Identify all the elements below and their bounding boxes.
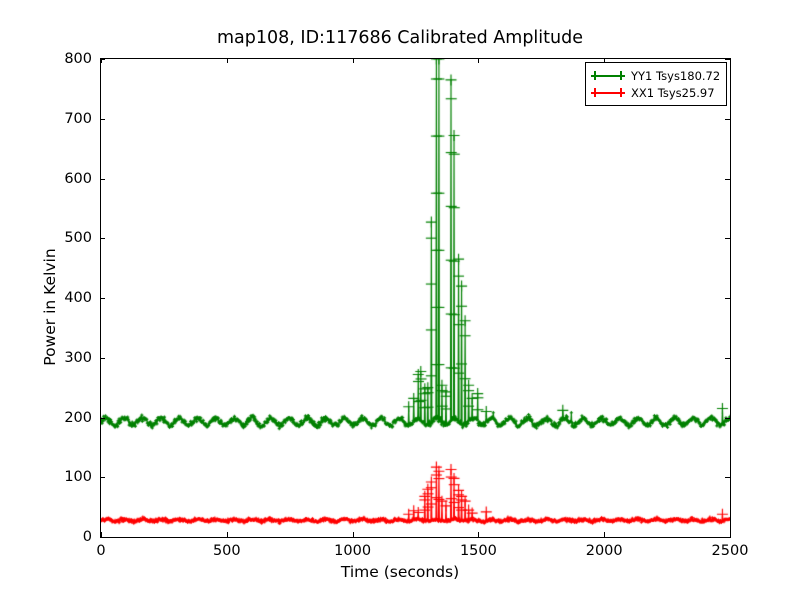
x-tick-mark bbox=[227, 532, 228, 537]
x-tick-mark bbox=[101, 532, 102, 537]
legend-label-yy1: YY1 Tsys180.72 bbox=[631, 69, 720, 83]
y-tick-mark bbox=[725, 238, 730, 239]
x-tick-mark bbox=[353, 532, 354, 537]
y-tick-mark bbox=[100, 537, 105, 538]
y-tick-mark bbox=[100, 119, 105, 120]
plot-area bbox=[100, 58, 731, 538]
legend-item: YY1 Tsys180.72 bbox=[591, 67, 720, 84]
legend-marker-icon bbox=[591, 69, 625, 83]
y-tick-label: 800 bbox=[0, 51, 92, 67]
y-tick-mark bbox=[725, 119, 730, 120]
chart-title: map108, ID:117686 Calibrated Amplitude bbox=[0, 28, 800, 48]
plot-canvas bbox=[101, 59, 730, 537]
x-tick-label: 500 bbox=[182, 543, 272, 559]
y-tick-mark bbox=[100, 298, 105, 299]
chart-legend: YY1 Tsys180.72 XX1 Tsys25.97 bbox=[585, 62, 727, 106]
x-tick-label: 2500 bbox=[685, 543, 775, 559]
matplotlib-figure: map108, ID:117686 Calibrated Amplitude 0… bbox=[0, 0, 800, 600]
x-tick-label: 1000 bbox=[308, 543, 398, 559]
y-tick-mark bbox=[725, 537, 730, 538]
x-axis-label: Time (seconds) bbox=[0, 563, 800, 581]
y-tick-mark bbox=[725, 179, 730, 180]
x-tick-label: 2000 bbox=[559, 543, 649, 559]
x-tick-mark bbox=[227, 58, 228, 63]
x-tick-mark bbox=[478, 58, 479, 63]
x-tick-mark bbox=[730, 58, 731, 63]
x-tick-label: 1500 bbox=[433, 543, 523, 559]
y-tick-mark bbox=[100, 238, 105, 239]
y-tick-mark bbox=[100, 358, 105, 359]
y-tick-mark bbox=[100, 418, 105, 419]
y-tick-mark bbox=[725, 418, 730, 419]
x-tick-mark bbox=[353, 58, 354, 63]
x-tick-label: 0 bbox=[56, 543, 146, 559]
x-tick-mark bbox=[730, 532, 731, 537]
x-tick-mark bbox=[478, 532, 479, 537]
y-tick-mark bbox=[100, 179, 105, 180]
y-axis-label: Power in Kelvin bbox=[41, 107, 59, 507]
legend-item: XX1 Tsys25.97 bbox=[591, 84, 720, 101]
y-tick-mark bbox=[725, 358, 730, 359]
x-tick-mark bbox=[604, 532, 605, 537]
legend-label-xx1: XX1 Tsys25.97 bbox=[631, 86, 715, 100]
x-tick-mark bbox=[101, 58, 102, 63]
legend-marker-icon bbox=[591, 86, 625, 100]
y-tick-mark bbox=[725, 477, 730, 478]
y-tick-mark bbox=[725, 298, 730, 299]
y-tick-mark bbox=[100, 477, 105, 478]
